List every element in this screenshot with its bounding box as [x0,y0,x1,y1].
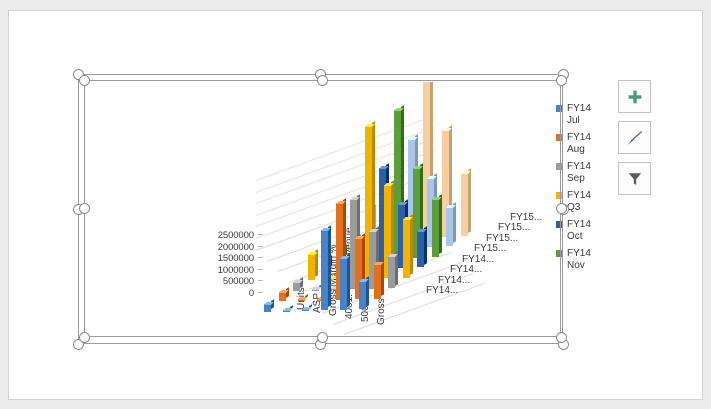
selection-handle[interactable] [79,203,90,214]
selection-handle[interactable] [556,332,567,343]
selection-handle[interactable] [79,75,90,86]
legend-label-line2: Jul [567,115,614,127]
selection-handle[interactable] [556,203,567,214]
bar-3d[interactable] [403,219,410,278]
legend-item[interactable]: FY14Jul [556,103,614,127]
bar-3d[interactable] [312,289,319,291]
selection-handle[interactable] [556,75,567,86]
chart-quick-buttons[interactable] [618,80,651,203]
legend-item[interactable]: FY14Oct [556,219,614,243]
legend-label-line2: Aug [567,144,614,156]
bar-3d[interactable] [321,230,328,310]
legend-label-line2: Sep [567,173,614,185]
bar-3d[interactable] [279,292,286,301]
bar-3d[interactable] [264,304,271,312]
legend-label-line2: Oct [567,231,614,243]
bar-3d[interactable] [374,264,381,299]
bar-3d[interactable] [461,173,468,236]
paintbrush-icon [626,129,644,147]
legend-label-line1: FY14 [567,248,591,260]
plus-icon [627,89,643,105]
legend-item[interactable]: FY14Sep [556,161,614,185]
legend-label-line1: FY14 [567,132,591,144]
legend-label-line2: Q3 [567,202,614,214]
bar-3d[interactable] [359,281,366,310]
bar-3d[interactable] [298,299,305,301]
chart-filters-button[interactable] [618,162,651,195]
funnel-icon [627,171,643,187]
selection-handle[interactable] [79,332,90,343]
selection-handle[interactable] [317,75,328,86]
legend-item[interactable]: FY14Aug [556,132,614,156]
bar-3d[interactable] [388,256,395,289]
legend-label-line2: Nov [567,260,614,272]
bar-3d[interactable] [308,254,315,280]
bar-3d[interactable] [283,310,290,312]
selection-handle[interactable] [317,332,328,343]
bar-3d[interactable] [340,258,347,310]
bar-3d[interactable] [302,309,309,311]
screenshot-root: 2500000 2000000 1500000 1000000 500000 0… [0,0,711,409]
bar-3d[interactable] [432,199,439,257]
legend-label-line1: FY14 [567,190,591,202]
chart-legend[interactable]: FY14JulFY14AugFY14SepFY14Q3FY14OctFY14No… [556,103,614,277]
chart-styles-button[interactable] [618,121,651,154]
chart-elements-button[interactable] [618,80,651,113]
legend-label-line1: FY14 [567,161,591,173]
legend-label-line1: FY14 [567,219,591,231]
legend-label-line1: FY14 [567,103,591,115]
legend-item[interactable]: FY14Nov [556,248,614,272]
bar-3d[interactable] [446,207,453,246]
bar-3d[interactable] [417,231,424,268]
bar-3d[interactable] [293,282,300,291]
